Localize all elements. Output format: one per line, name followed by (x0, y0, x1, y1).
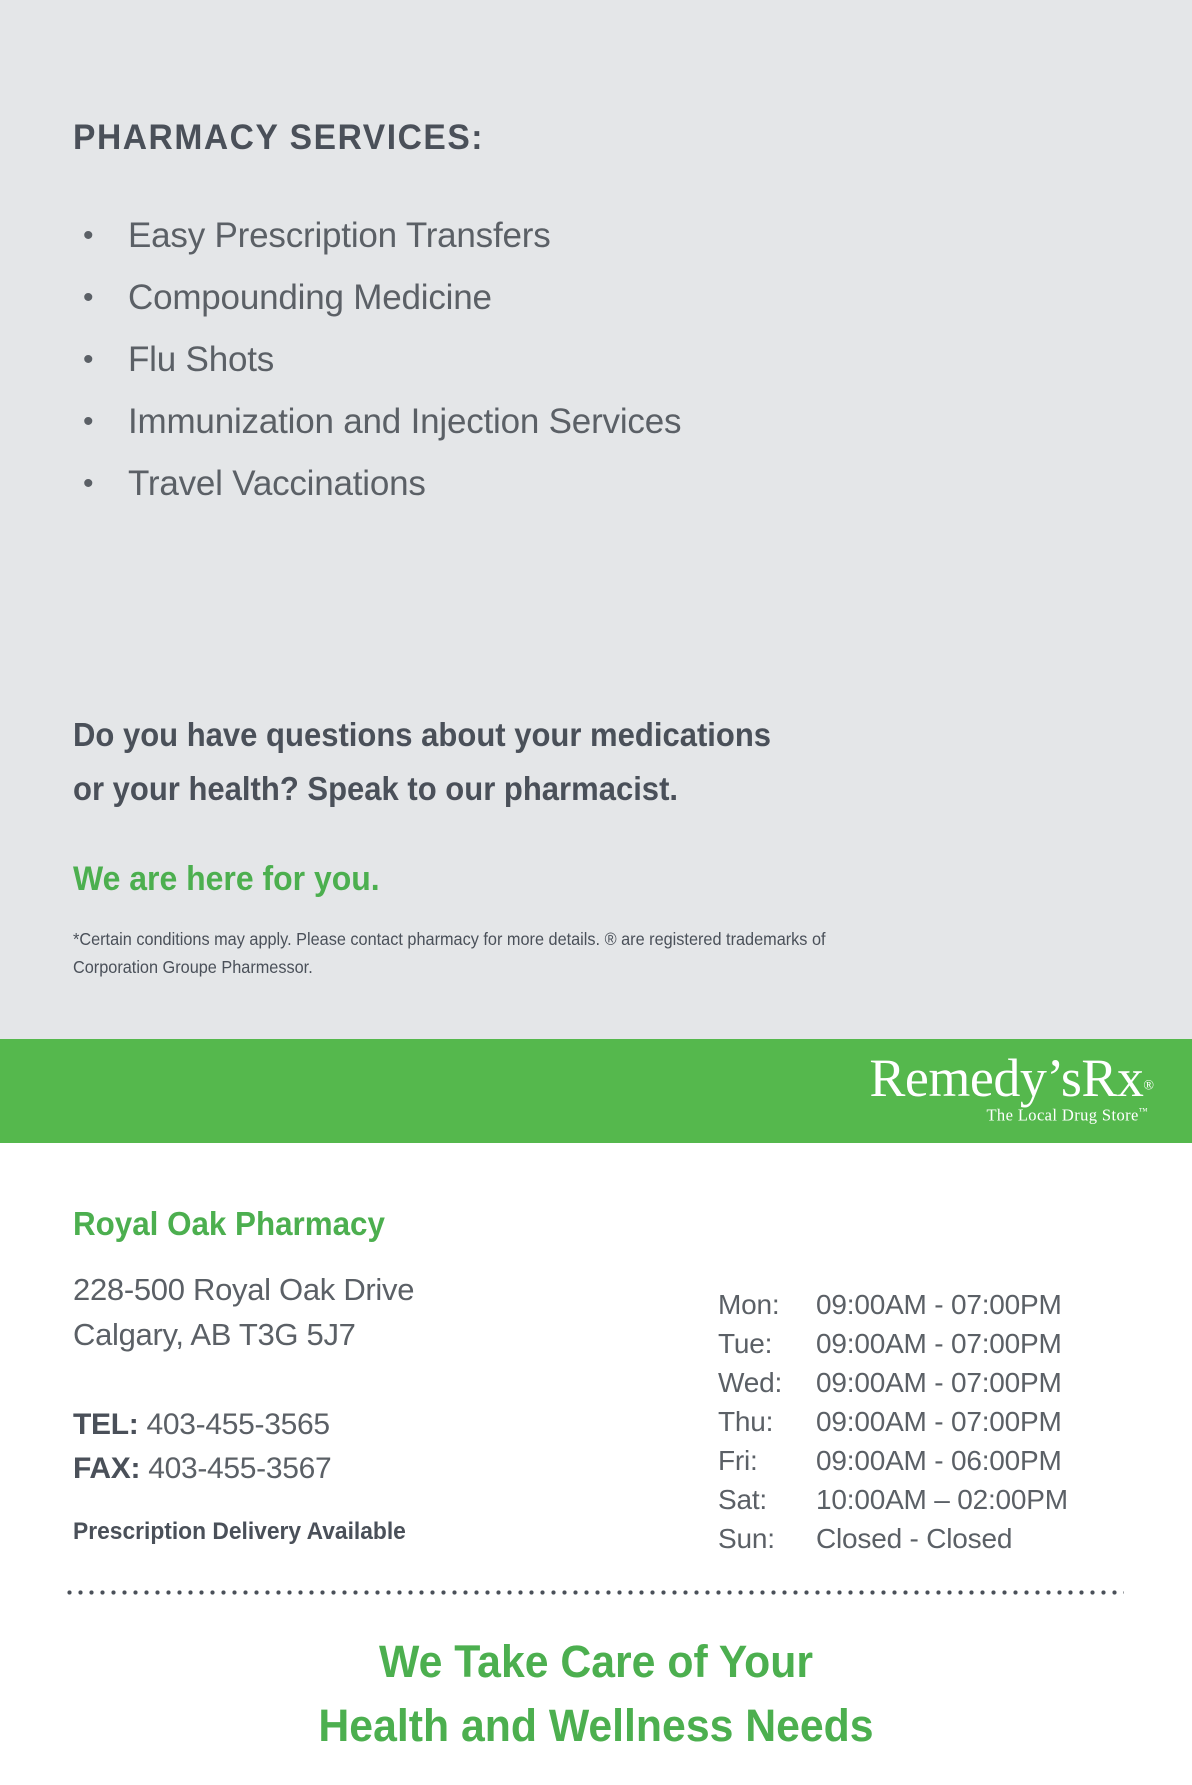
list-item-label: Travel Vaccinations (128, 464, 426, 503)
list-item: • Flu Shots (73, 329, 681, 391)
bullet-icon: • (83, 267, 93, 329)
hours-time: 09:00AM - 06:00PM (816, 1441, 1062, 1480)
bullet-icon: • (83, 329, 93, 391)
bullet-icon: • (83, 453, 93, 515)
disclaimer-line-2: Corporation Groupe Pharmessor. (73, 953, 1003, 981)
list-item-label: Immunization and Injection Services (128, 402, 681, 441)
services-panel: PHARMACY SERVICES: • Easy Prescription T… (0, 0, 1192, 1039)
table-row: Wed: 09:00AM - 07:00PM (718, 1363, 1068, 1402)
question-line-1: Do you have questions about your medicat… (73, 708, 771, 762)
hours-day: Fri: (718, 1441, 816, 1480)
footer-tagline-line-1: We Take Care of Your (30, 1630, 1162, 1694)
list-item: • Immunization and Injection Services (73, 391, 681, 453)
list-item-label: Easy Prescription Transfers (128, 216, 551, 255)
address-line-1: 228-500 Royal Oak Drive (73, 1267, 414, 1312)
hours-day: Mon: (718, 1285, 816, 1324)
list-item-label: Compounding Medicine (128, 278, 492, 317)
delivery-note: Prescription Delivery Available (73, 1518, 406, 1546)
remedysrx-logo: Remedy’sRx® The Local Drug Store™ (869, 1051, 1154, 1124)
brand-banner: Remedy’sRx® The Local Drug Store™ (0, 1039, 1192, 1143)
telephone-label: TEL: (73, 1408, 138, 1441)
logo-tagline: The Local Drug Store™ (869, 1107, 1148, 1124)
here-for-you-tagline: We are here for you. (73, 860, 380, 899)
list-item-label: Flu Shots (128, 340, 274, 379)
bullet-icon: • (83, 205, 93, 267)
bullet-icon: • (83, 391, 93, 453)
table-row: Tue: 09:00AM - 07:00PM (718, 1324, 1068, 1363)
pharmacist-question: Do you have questions about your medicat… (73, 708, 771, 816)
disclaimer-line-1: *Certain conditions may apply. Please co… (73, 925, 1003, 953)
list-item: • Compounding Medicine (73, 267, 681, 329)
services-list: • Easy Prescription Transfers • Compound… (73, 205, 681, 515)
question-line-2: or your health? Speak to our pharmacist. (73, 762, 771, 816)
hours-time: 09:00AM - 07:00PM (816, 1285, 1062, 1324)
footer-tagline-line-2: Health and Wellness Needs (30, 1694, 1162, 1758)
dotted-divider (64, 1589, 1124, 1596)
hours-day: Thu: (718, 1402, 816, 1441)
table-row: Mon: 09:00AM - 07:00PM (718, 1285, 1068, 1324)
hours-time: Closed - Closed (816, 1519, 1012, 1558)
page-title: PHARMACY SERVICES: (73, 118, 484, 158)
hours-day: Sat: (718, 1480, 816, 1519)
address-line-2: Calgary, AB T3G 5J7 (73, 1312, 414, 1357)
hours-time: 09:00AM - 07:00PM (816, 1363, 1062, 1402)
table-row: Sat: 10:00AM – 02:00PM (718, 1480, 1068, 1519)
hours-time: 09:00AM - 07:00PM (816, 1324, 1062, 1363)
hours-time: 10:00AM – 02:00PM (816, 1480, 1068, 1519)
table-row: Thu: 09:00AM - 07:00PM (718, 1402, 1068, 1441)
fax-label: FAX: (73, 1452, 140, 1485)
disclaimer: *Certain conditions may apply. Please co… (73, 925, 1003, 981)
registered-trademark-icon: ® (1143, 1079, 1154, 1094)
list-item: • Easy Prescription Transfers (73, 205, 681, 267)
store-address: 228-500 Royal Oak Drive Calgary, AB T3G … (73, 1267, 414, 1357)
table-row: Sun: Closed - Closed (718, 1519, 1068, 1558)
store-name: Royal Oak Pharmacy (73, 1205, 385, 1243)
hours-time: 09:00AM - 07:00PM (816, 1402, 1062, 1441)
fax-number: 403-455-3567 (148, 1452, 331, 1485)
hours-day: Wed: (718, 1363, 816, 1402)
telephone-number[interactable]: 403-455-3565 (147, 1408, 330, 1441)
hours-day: Tue: (718, 1324, 816, 1363)
telephone-row: TEL: 403-455-3565 (73, 1403, 331, 1447)
hours-day: Sun: (718, 1519, 816, 1558)
contact-numbers: TEL: 403-455-3565 FAX: 403-455-3567 (73, 1403, 331, 1491)
list-item: • Travel Vaccinations (73, 453, 681, 515)
store-hours: Mon: 09:00AM - 07:00PM Tue: 09:00AM - 07… (718, 1285, 1068, 1558)
logo-wordmark: Remedy’sRx (869, 1051, 1143, 1105)
table-row: Fri: 09:00AM - 06:00PM (718, 1441, 1068, 1480)
logo-tagline-text: The Local Drug Store (986, 1106, 1138, 1125)
fax-row: FAX: 403-455-3567 (73, 1447, 331, 1491)
footer-tagline: We Take Care of Your Health and Wellness… (0, 1630, 1192, 1758)
